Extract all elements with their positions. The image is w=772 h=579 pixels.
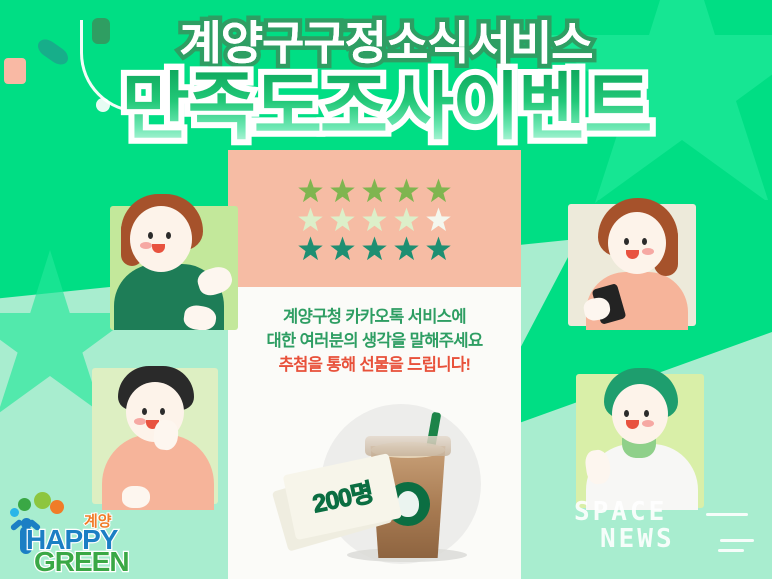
- happy-green-logo: 계양 HAPPY GREEN: [4, 492, 144, 574]
- coupon-card-front: 200명: [283, 453, 402, 540]
- title-line-2-text: 만족도조사이벤트: [122, 70, 651, 144]
- logo-bubble-icon: [50, 500, 64, 514]
- message-line-2: 대한 여러분의 생각을 말해주세요: [228, 330, 521, 354]
- logo-bubble-icon: [18, 498, 31, 511]
- character-green-hair-pointing: [560, 362, 712, 510]
- star-rating-graphic: [228, 178, 521, 265]
- title-line-2: 만족도조사이벤트 만족도조사이벤트: [122, 70, 651, 144]
- poster-title: 계양구구정소식서비스 계양구구정소식서비스 만족도조사이벤트 만족도조사이벤트: [0, 20, 772, 144]
- star-row-3: [228, 236, 521, 262]
- logo-bubble-icon: [34, 492, 51, 509]
- character-woman-with-phone: [560, 190, 710, 330]
- watermark-space-news: SPACE NEWS: [574, 499, 754, 561]
- cup-lid: [365, 436, 451, 456]
- character-woman-green-sweater: [88, 188, 238, 330]
- promo-poster: 계양구구정소식서비스 계양구구정소식서비스 만족도조사이벤트 만족도조사이벤트 …: [0, 0, 772, 579]
- message-line-3: 추첨을 통해 선물을 드립니다!: [228, 354, 521, 378]
- title-line-1-text: 계양구구정소식서비스: [179, 20, 592, 66]
- prize-graphic: 200명: [285, 398, 485, 573]
- coupon-label: 200명: [309, 473, 376, 521]
- logo-green-text: GREEN: [34, 546, 129, 578]
- title-line-1: 계양구구정소식서비스 계양구구정소식서비스: [179, 20, 592, 66]
- star-row-2: [228, 207, 521, 233]
- message-line-1: 계양구청 카카오톡 서비스에: [228, 306, 521, 330]
- star-row-1: [228, 178, 521, 204]
- message-block: 계양구청 카카오톡 서비스에 대한 여러분의 생각을 말해주세요 추첨을 통해 …: [228, 306, 521, 378]
- character-man-thinking: [82, 360, 232, 510]
